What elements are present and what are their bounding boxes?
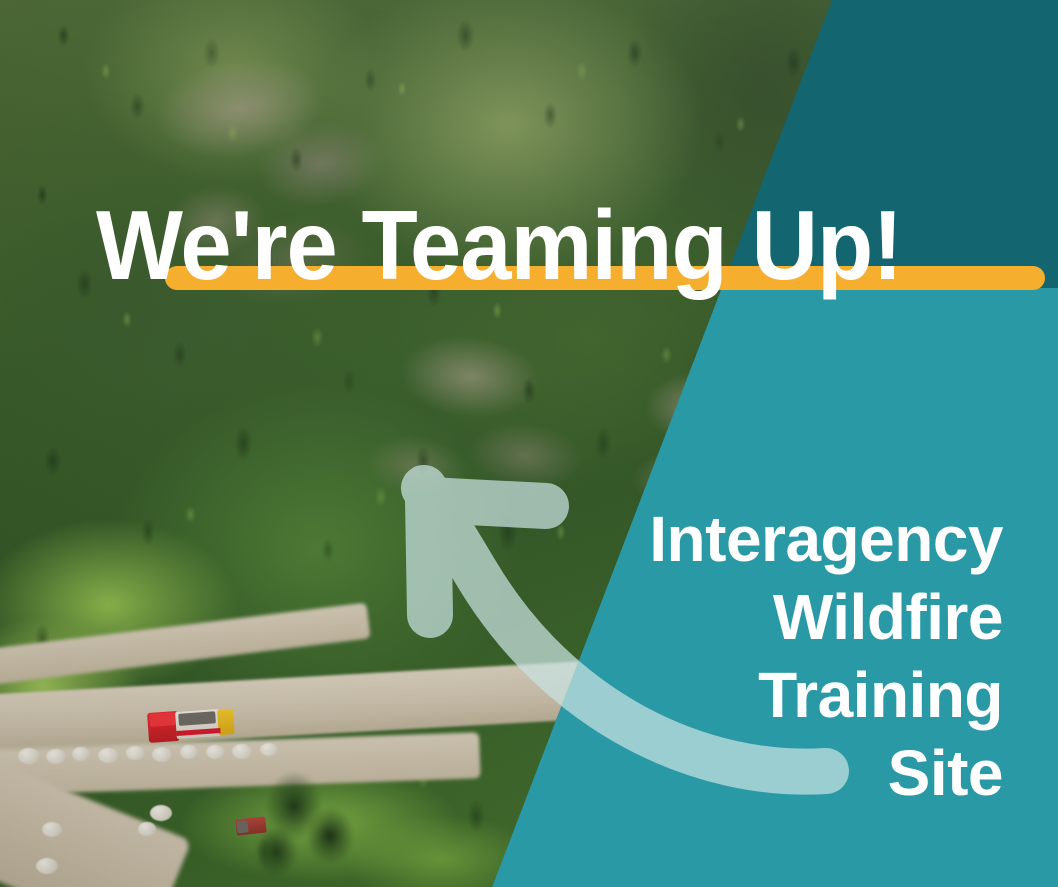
promo-poster: We're Teaming Up! Interagency Wildfire T… (0, 0, 1058, 887)
page-title: We're Teaming Up! (96, 196, 998, 294)
panel-title-block: Interagency Wildfire Training Site (583, 500, 1003, 812)
panel-title-line-1: Interagency (583, 500, 1003, 578)
panel-title-line-4: Site (583, 734, 1003, 812)
panel-title-line-3: Training (583, 656, 1003, 734)
panel-title-line-2: Wildfire (583, 578, 1003, 656)
